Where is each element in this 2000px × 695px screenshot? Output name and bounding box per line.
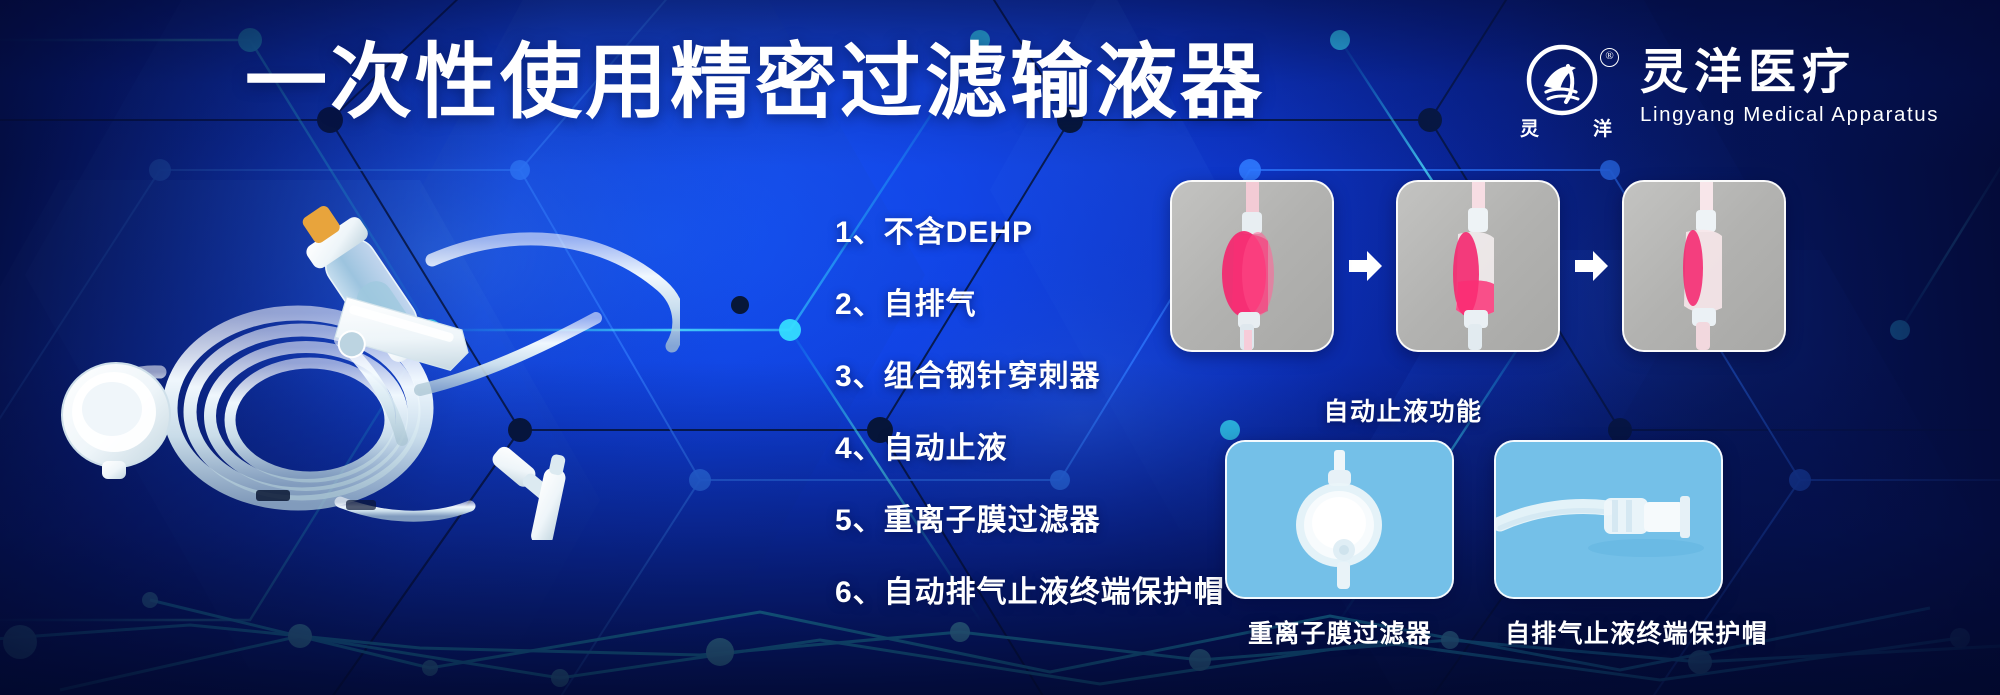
registered-trademark-icon: ®: [1600, 48, 1619, 67]
brand-wordmark: 灵洋医疗 Lingyang Medical Apparatus: [1640, 48, 1939, 127]
sequence-arrow-1: [1334, 246, 1396, 286]
brand-name-cn: 灵洋医疗: [1640, 48, 1939, 99]
feature-item-3: 3、组合钢针穿刺器: [835, 362, 1255, 392]
logo-emblem-characters: 灵 洋: [1520, 114, 1612, 141]
logo-emblem-icon: ® 灵 洋: [1520, 42, 1612, 134]
product-banner: 一次性使用精密过滤输液器 ® 灵 洋 灵洋医疗 Lingyang Medic: [0, 0, 2000, 695]
feature-item-5: 5、重离子膜过滤器: [835, 506, 1255, 536]
brand-logo: ® 灵 洋 灵洋医疗 Lingyang Medical Apparatus: [1520, 40, 1939, 136]
logo-char-yang: 洋: [1593, 114, 1612, 141]
sequence-photo-2: [1396, 180, 1560, 352]
sequence-photo-3: [1622, 180, 1786, 352]
component-photo-filter: [1225, 440, 1454, 599]
sequence-arrow-2: [1560, 246, 1622, 286]
caption-auto-stop-function: 自动止液功能: [1170, 392, 1636, 428]
banner-header: 一次性使用精密过滤输液器 ® 灵 洋 灵洋医疗 Lingyang Medic: [0, 0, 2000, 145]
feature-item-6: 6、自动排气止液终端保护帽: [835, 578, 1255, 608]
logo-char-ling: 灵: [1520, 114, 1539, 141]
page-title: 一次性使用精密过滤输液器: [245, 42, 1265, 124]
component-showcase: [1225, 440, 1723, 599]
brand-name-en: Lingyang Medical Apparatus: [1640, 103, 1939, 128]
hero-product-photo: [40, 140, 680, 540]
component-captions: 重离子膜过滤器 自排气止液终端保护帽: [1225, 614, 1735, 650]
auto-stop-sequence: [1170, 180, 1786, 352]
caption-protection-cap: 自排气止液终端保护帽: [1505, 614, 1735, 650]
component-photo-cap: [1494, 440, 1723, 599]
sequence-photo-1: [1170, 180, 1334, 352]
caption-heavy-ion-filter: 重离子膜过滤器: [1225, 614, 1455, 650]
feature-item-4: 4、自动止液: [835, 434, 1255, 464]
